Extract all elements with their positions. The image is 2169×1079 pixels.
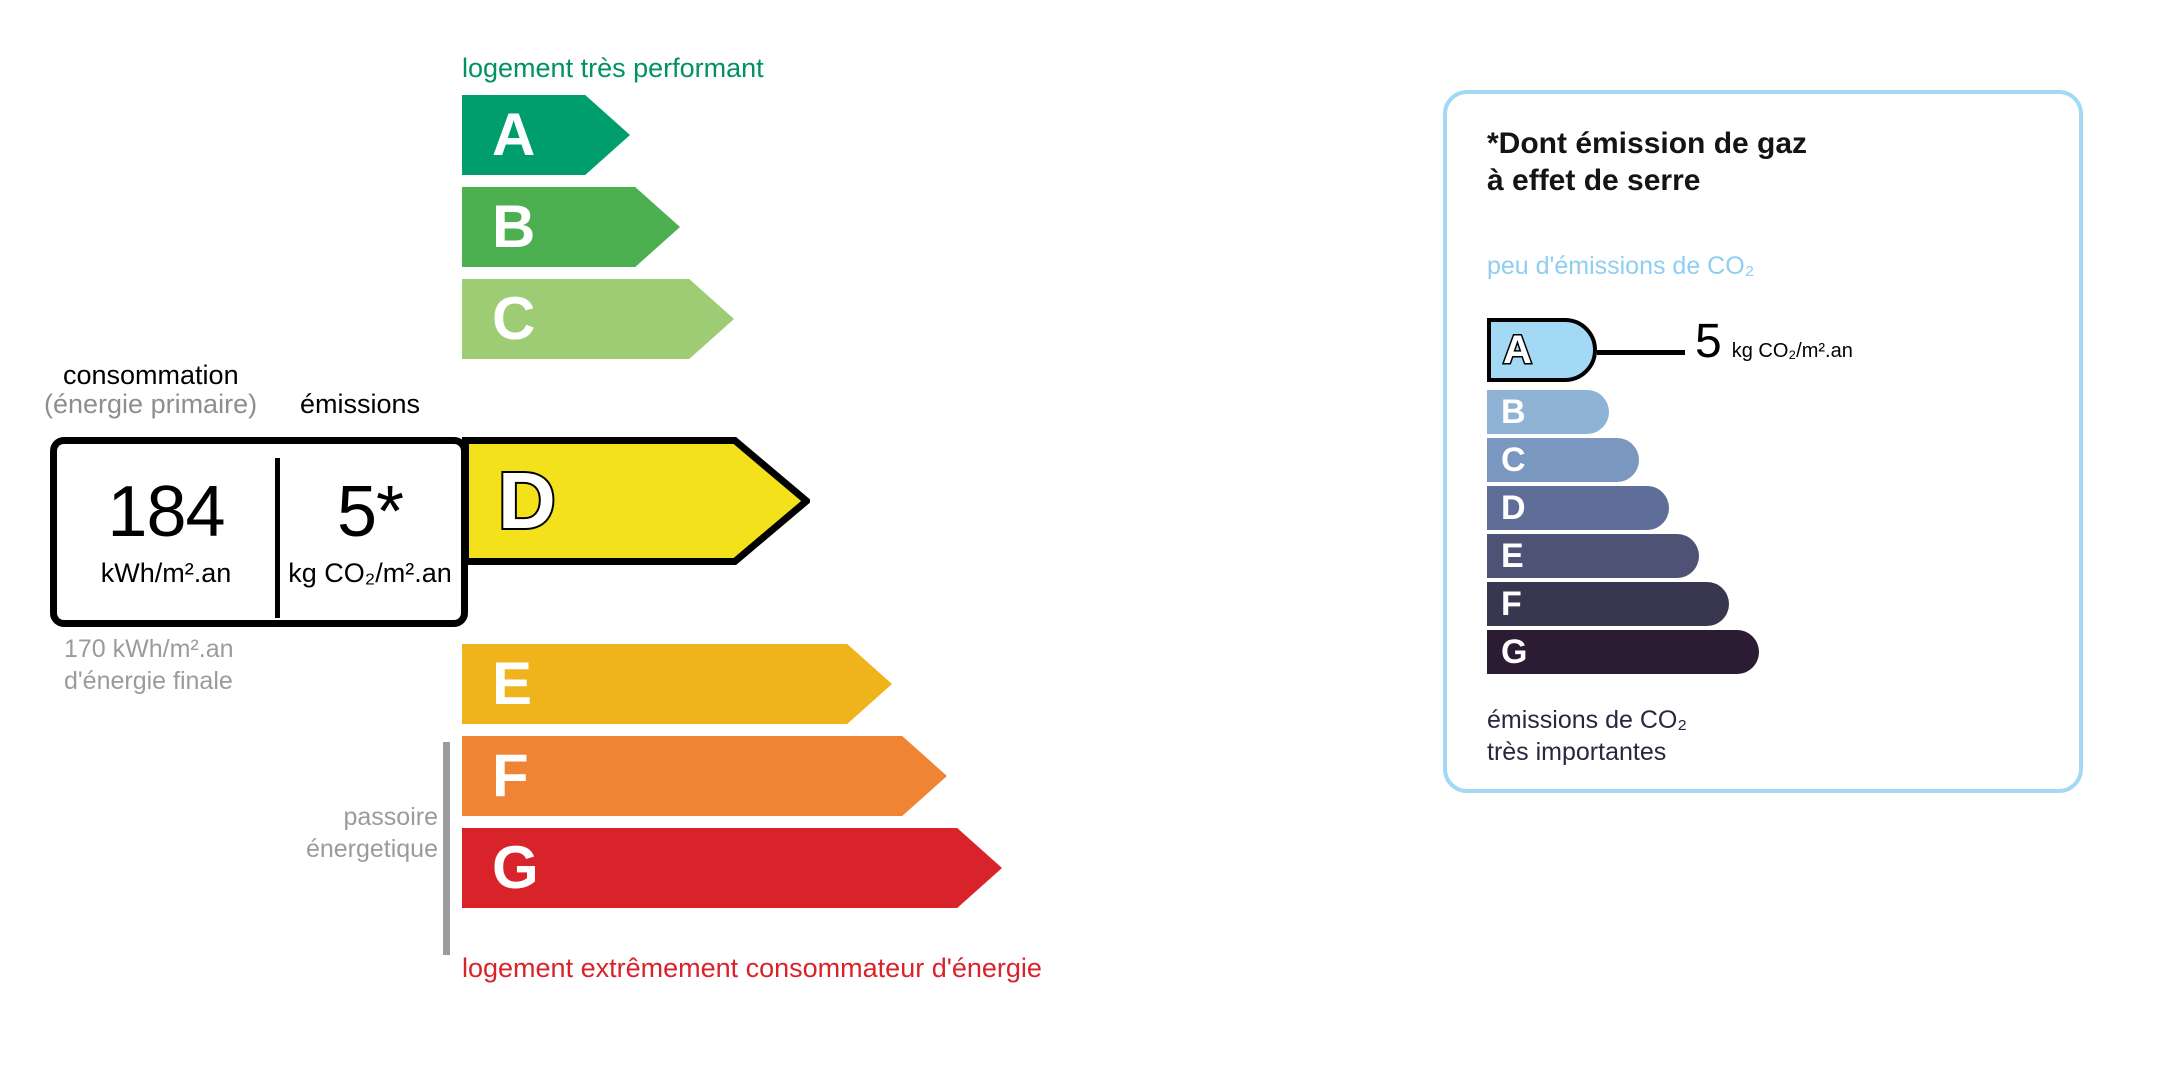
energy-class-arrow-c: C	[462, 279, 734, 359]
ges-class-letter-f: F	[1501, 587, 1522, 621]
ges-class-letter-d: D	[1501, 491, 1526, 525]
consumption-sublabel: (énergie primaire)	[44, 389, 257, 420]
emission-unit: kg CO₂/m².an	[288, 558, 452, 589]
consumption-label: consommation	[63, 360, 239, 391]
ges-value-group: 5 kg CO₂/m².an	[1695, 318, 1853, 366]
energy-class-letter-d: D	[498, 461, 556, 541]
energy-class-letter-g: G	[492, 838, 539, 898]
energy-class-letter-c: C	[492, 289, 535, 349]
ges-class-bar-b: B	[1487, 390, 1609, 434]
ges-bottom-caption-line1: émissions de CO₂	[1487, 704, 1687, 736]
scale-bottom-caption: logement extrêmement consommateur d'éner…	[462, 953, 1042, 984]
ges-panel: *Dont émission de gaz à effet de serre p…	[1443, 90, 2083, 793]
consumption-unit: kWh/m².an	[101, 558, 232, 589]
ges-class-letter-e: E	[1501, 539, 1524, 573]
ges-class-letter-g: G	[1501, 635, 1527, 669]
ges-class-letter-c: C	[1501, 443, 1526, 477]
ges-value: 5	[1695, 318, 1722, 366]
final-energy-line2: d'énergie finale	[64, 665, 234, 697]
energy-class-arrow-d: D	[462, 437, 810, 565]
dpe-energy-scale-panel: logement très performant ABCDEFG consomm…	[0, 0, 1400, 1079]
ges-top-caption: peu d'émissions de CO₂	[1487, 252, 1754, 281]
emission-value-cell: 5* kg CO₂/m².an	[275, 444, 465, 620]
ges-class-bar-c: C	[1487, 438, 1639, 482]
ges-bar-shape-f	[1487, 582, 1729, 626]
ges-class-letter-b: B	[1501, 395, 1526, 429]
scale-top-caption: logement très performant	[462, 53, 764, 84]
energy-class-arrow-g: G	[462, 828, 1002, 908]
final-energy-note: 170 kWh/m².an d'énergie finale	[64, 633, 234, 697]
ges-title-line1: *Dont émission de gaz	[1487, 126, 1807, 163]
passoire-line2: énergetique	[0, 833, 438, 865]
emissions-label: émissions	[300, 389, 420, 420]
energy-class-letter-f: F	[492, 746, 529, 806]
energy-class-arrow-a: A	[462, 95, 630, 175]
ges-class-bar-f: F	[1487, 582, 1729, 626]
passoire-energetique-label: passoire énergetique	[0, 801, 438, 865]
current-rating-values-box: 184 kWh/m².an 5* kg CO₂/m².an	[50, 437, 468, 627]
ges-bottom-caption-line2: très importantes	[1487, 736, 1687, 768]
energy-class-arrow-f: F	[462, 736, 947, 816]
passoire-energetique-bracket	[443, 742, 450, 955]
energy-class-arrow-b: B	[462, 187, 680, 267]
ges-title-line2: à effet de serre	[1487, 163, 1807, 200]
ges-class-bar-a: A	[1487, 318, 1597, 382]
emission-value: 5*	[337, 476, 403, 548]
ges-panel-title: *Dont émission de gaz à effet de serre	[1487, 126, 1807, 199]
energy-class-letter-b: B	[492, 197, 535, 257]
ges-bar-shape-g	[1487, 630, 1759, 674]
ges-class-bar-d: D	[1487, 486, 1669, 530]
ges-value-unit: kg CO₂/m².an	[1732, 340, 1853, 363]
ges-class-bar-g: G	[1487, 630, 1759, 674]
consumption-value-cell: 184 kWh/m².an	[57, 444, 275, 620]
ges-class-letter-a: A	[1503, 330, 1532, 370]
energy-class-letter-a: A	[492, 105, 535, 165]
ges-bottom-caption: émissions de CO₂ très importantes	[1487, 704, 1687, 768]
energy-class-letter-e: E	[492, 654, 532, 714]
final-energy-line1: 170 kWh/m².an	[64, 633, 234, 665]
passoire-line1: passoire	[0, 801, 438, 833]
ges-leader-line	[1597, 350, 1685, 355]
energy-class-arrow-e: E	[462, 644, 892, 724]
consumption-value: 184	[107, 476, 224, 548]
ges-class-bar-e: E	[1487, 534, 1699, 578]
